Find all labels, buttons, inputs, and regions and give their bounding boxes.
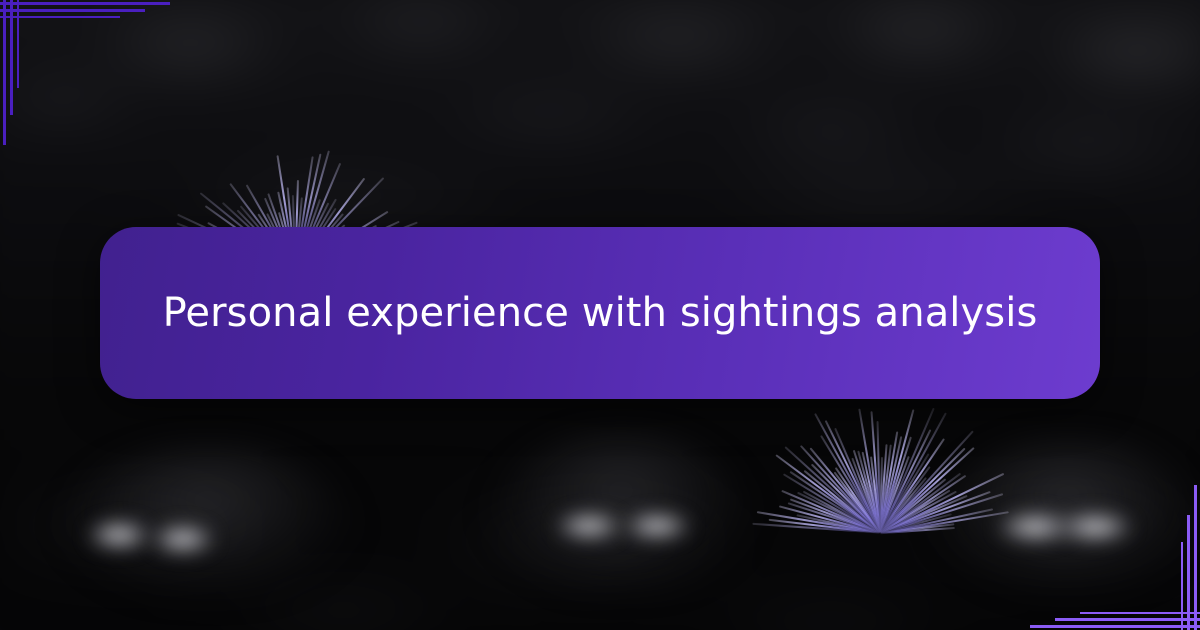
headlight-left-inner [88,520,150,550]
headlight-center-right [624,512,690,540]
page-title: Personal experience with sightings analy… [123,289,1078,337]
headlight-right-outer [1058,512,1132,542]
headlight-left-outer [152,524,214,554]
title-card: Personal experience with sightings analy… [100,227,1100,399]
screenshot-stage: Personal experience with sightings analy… [0,0,1200,630]
headlight-center-left [556,512,622,540]
